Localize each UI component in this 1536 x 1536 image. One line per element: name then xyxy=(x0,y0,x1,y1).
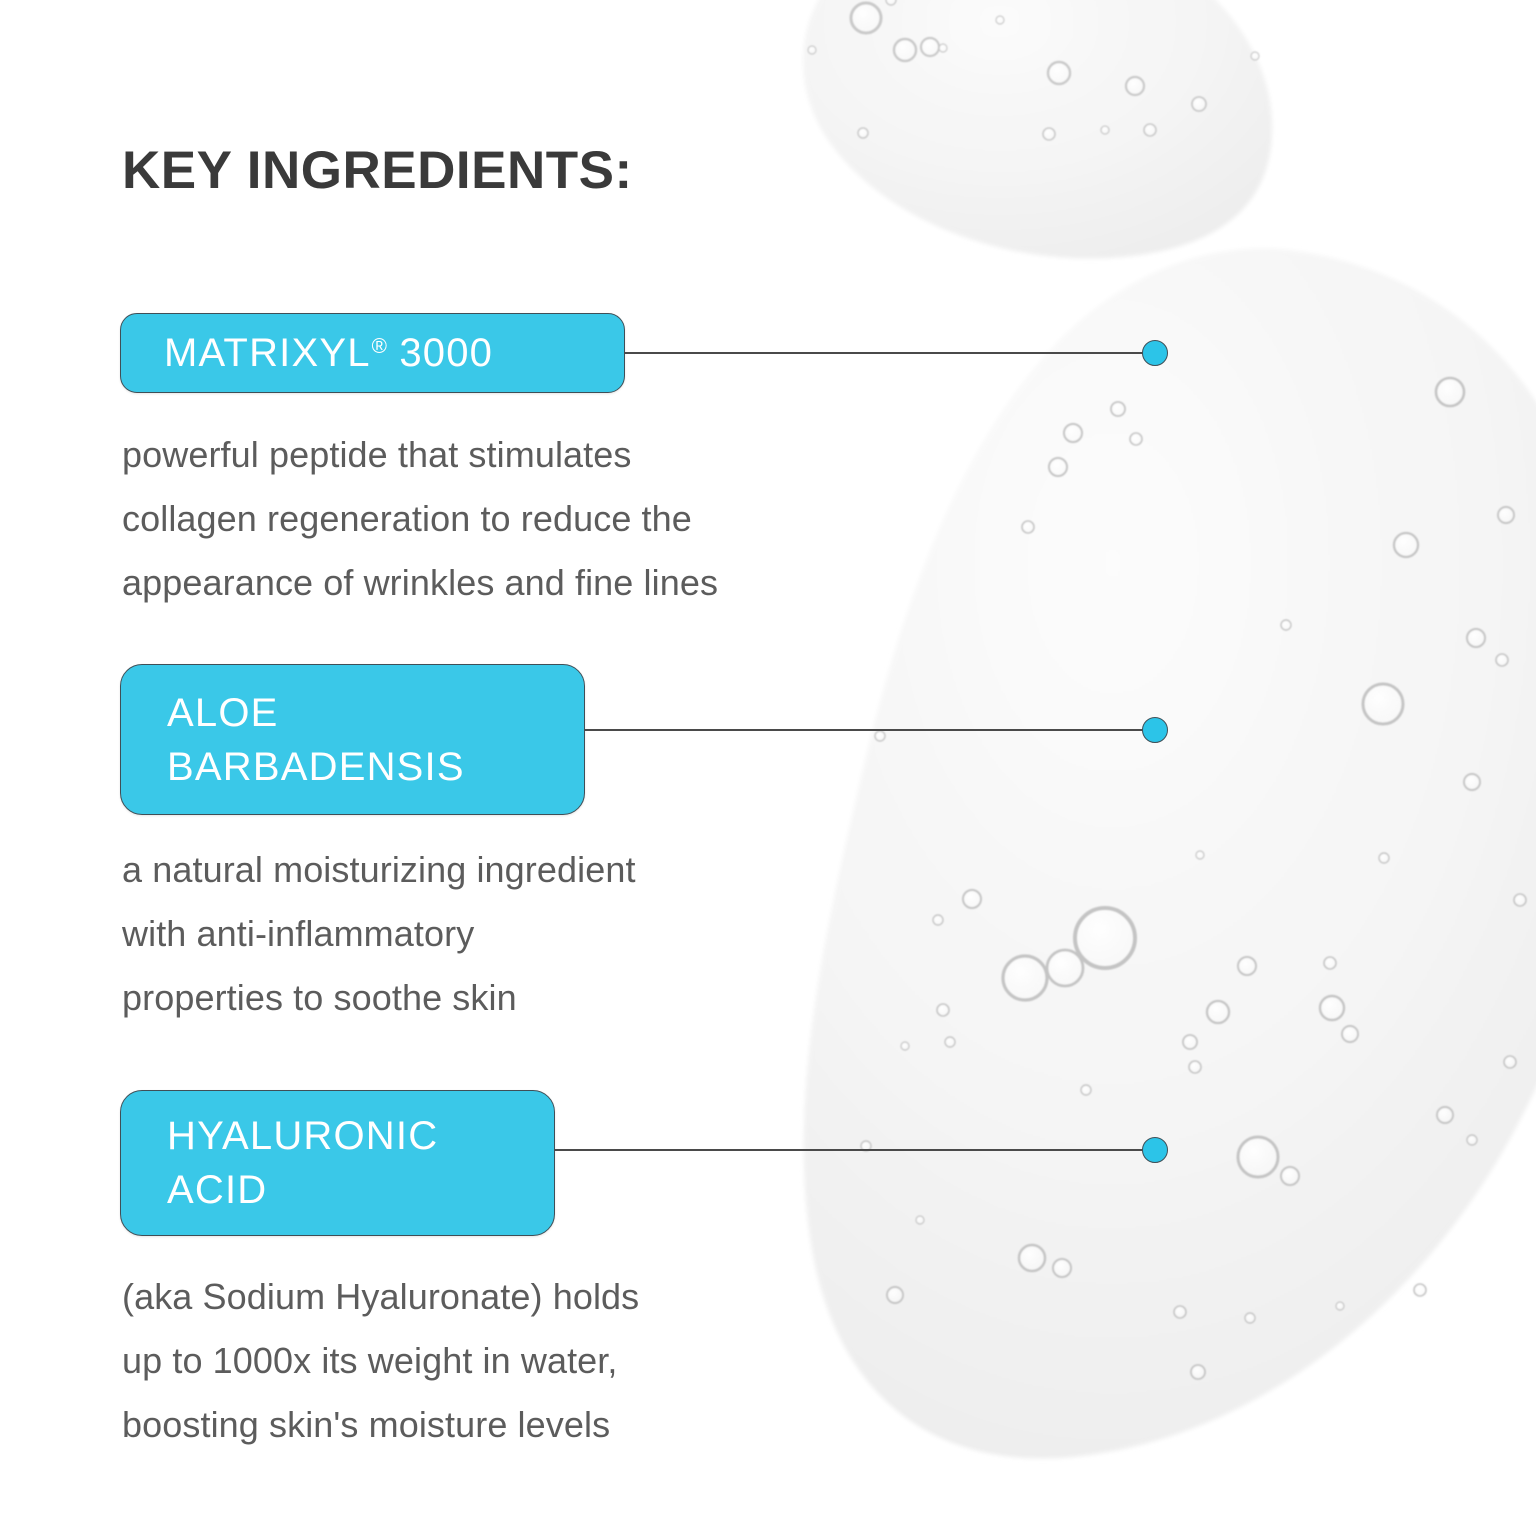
badge-label-matrixyl-name: MATRIXYL xyxy=(164,331,371,375)
connector-line-matrixyl xyxy=(624,352,1156,354)
connector-line-aloe xyxy=(584,729,1156,731)
connector-dot-hyaluronic xyxy=(1142,1137,1168,1163)
infographic-canvas: KEY INGREDIENTS: MATRIXYL® 3000 powerful… xyxy=(0,0,1536,1536)
ingredient-description-matrixyl: powerful peptide that stimulates collage… xyxy=(122,423,718,615)
desc-line: up to 1000x its weight in water, xyxy=(122,1329,639,1393)
badge-label-aloe-line2: BARBADENSIS xyxy=(167,740,584,794)
badge-label-hyaluronic-line2: ACID xyxy=(167,1163,554,1217)
badge-label-matrixyl: MATRIXYL® 3000 xyxy=(164,331,624,376)
gel-blob-main xyxy=(804,248,1536,1458)
desc-line: properties to soothe skin xyxy=(122,966,636,1030)
desc-line: (aka Sodium Hyaluronate) holds xyxy=(122,1265,639,1329)
ingredient-badge-matrixyl[interactable]: MATRIXYL® 3000 xyxy=(120,313,625,393)
desc-line: appearance of wrinkles and fine lines xyxy=(122,551,718,615)
ingredient-badge-aloe[interactable]: ALOE BARBADENSIS xyxy=(120,664,585,815)
bubble-cluster-top xyxy=(808,0,1259,140)
connector-line-hyaluronic xyxy=(554,1149,1156,1151)
registered-trademark-icon: ® xyxy=(372,335,387,358)
ingredient-description-hyaluronic-acid: (aka Sodium Hyaluronate) holds up to 100… xyxy=(122,1265,639,1457)
gel-blob-top xyxy=(803,0,1272,259)
badge-label-hyaluronic-line1: HYALURONIC xyxy=(167,1109,554,1163)
bubble-cluster-main xyxy=(861,378,1526,1379)
desc-line: collagen regeneration to reduce the xyxy=(122,487,718,551)
desc-line: a natural moisturizing ingredient xyxy=(122,838,636,902)
connector-dot-aloe xyxy=(1142,717,1168,743)
badge-label-aloe-line1: ALOE xyxy=(167,686,584,740)
badge-label-matrixyl-suffix: 3000 xyxy=(387,331,493,375)
ingredient-description-aloe: a natural moisturizing ingredient with a… xyxy=(122,838,636,1030)
ingredient-badge-hyaluronic-acid[interactable]: HYALURONIC ACID xyxy=(120,1090,555,1236)
desc-line: boosting skin's moisture levels xyxy=(122,1393,639,1457)
desc-line: powerful peptide that stimulates xyxy=(122,423,718,487)
desc-line: with anti-inflammatory xyxy=(122,902,636,966)
connector-dot-matrixyl xyxy=(1142,340,1168,366)
page-title: KEY INGREDIENTS: xyxy=(122,140,633,201)
